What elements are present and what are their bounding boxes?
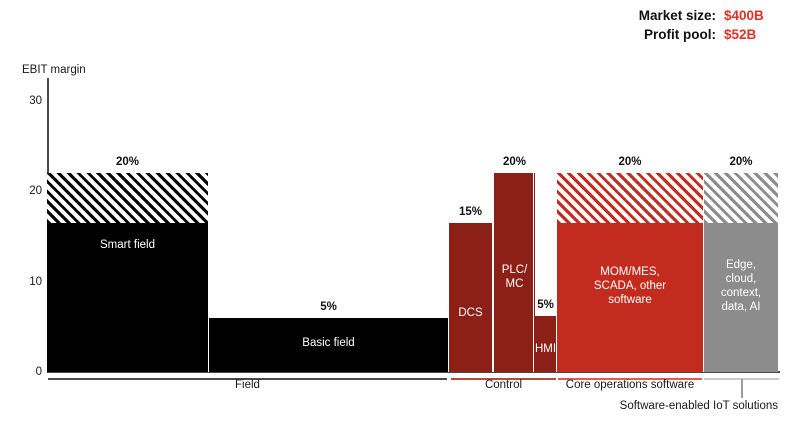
- bar-separator: [533, 160, 534, 372]
- bar-solid-segment: [47, 223, 208, 372]
- bar-hatched-segment: [47, 173, 208, 223]
- bar-solid-segment: [534, 316, 557, 372]
- category-label: Field: [235, 379, 260, 391]
- bar-percent-label: 20%: [729, 156, 752, 168]
- bar-separator: [208, 160, 209, 372]
- bar-separator: [556, 160, 557, 372]
- chart-root: Market size: $400B Profit pool: $52B EBI…: [0, 0, 800, 425]
- bar-solid-segment: [449, 223, 492, 372]
- bar-percent-label: 5%: [320, 301, 337, 313]
- y-axis-title: EBIT margin: [22, 64, 86, 76]
- y-tick-label: 20: [20, 185, 42, 197]
- bar-separator: [492, 160, 494, 372]
- bar-basic-field[interactable]: Basic field: [209, 318, 448, 372]
- bar-edge-cloud-context-data-ai[interactable]: Edge, cloud, context, data, AI: [704, 173, 778, 372]
- plot-area: EBIT margin 0102030 Smart fieldBasic fie…: [0, 0, 800, 425]
- bar-dcs[interactable]: DCS: [449, 223, 492, 372]
- bar-percent-label: 20%: [116, 156, 139, 168]
- bar-percent-label: 5%: [537, 299, 554, 311]
- bar-percent-label: 20%: [503, 156, 526, 168]
- category-label: Core operations software: [566, 379, 694, 391]
- category-leader-tick: [741, 379, 743, 398]
- bar-percent-label: 20%: [618, 156, 641, 168]
- bar-separator: [448, 160, 449, 372]
- bar-solid-segment: [704, 223, 778, 372]
- bar-percent-label: 15%: [459, 206, 482, 218]
- y-tick-label: 0: [20, 366, 42, 378]
- y-tick-label: 30: [20, 95, 42, 107]
- category-label: Software-enabled IoT solutions: [620, 400, 778, 412]
- bar-hatched-segment: [704, 173, 778, 223]
- bar-smart-field[interactable]: Smart field: [47, 173, 208, 372]
- bar-mom-mes-scada-other-software[interactable]: MOM/MES, SCADA, other software: [557, 173, 703, 372]
- bar-solid-segment: [557, 223, 703, 372]
- bar-hatched-segment: [557, 173, 703, 223]
- bar-separator: [703, 160, 704, 372]
- bar-hmi[interactable]: HMI: [534, 316, 557, 372]
- y-tick-label: 10: [20, 276, 42, 288]
- bar-solid-segment: [494, 173, 535, 372]
- bar-solid-segment: [209, 318, 448, 372]
- category-label: Control: [485, 379, 522, 391]
- bar-plc-mc[interactable]: PLC/ MC: [494, 173, 535, 372]
